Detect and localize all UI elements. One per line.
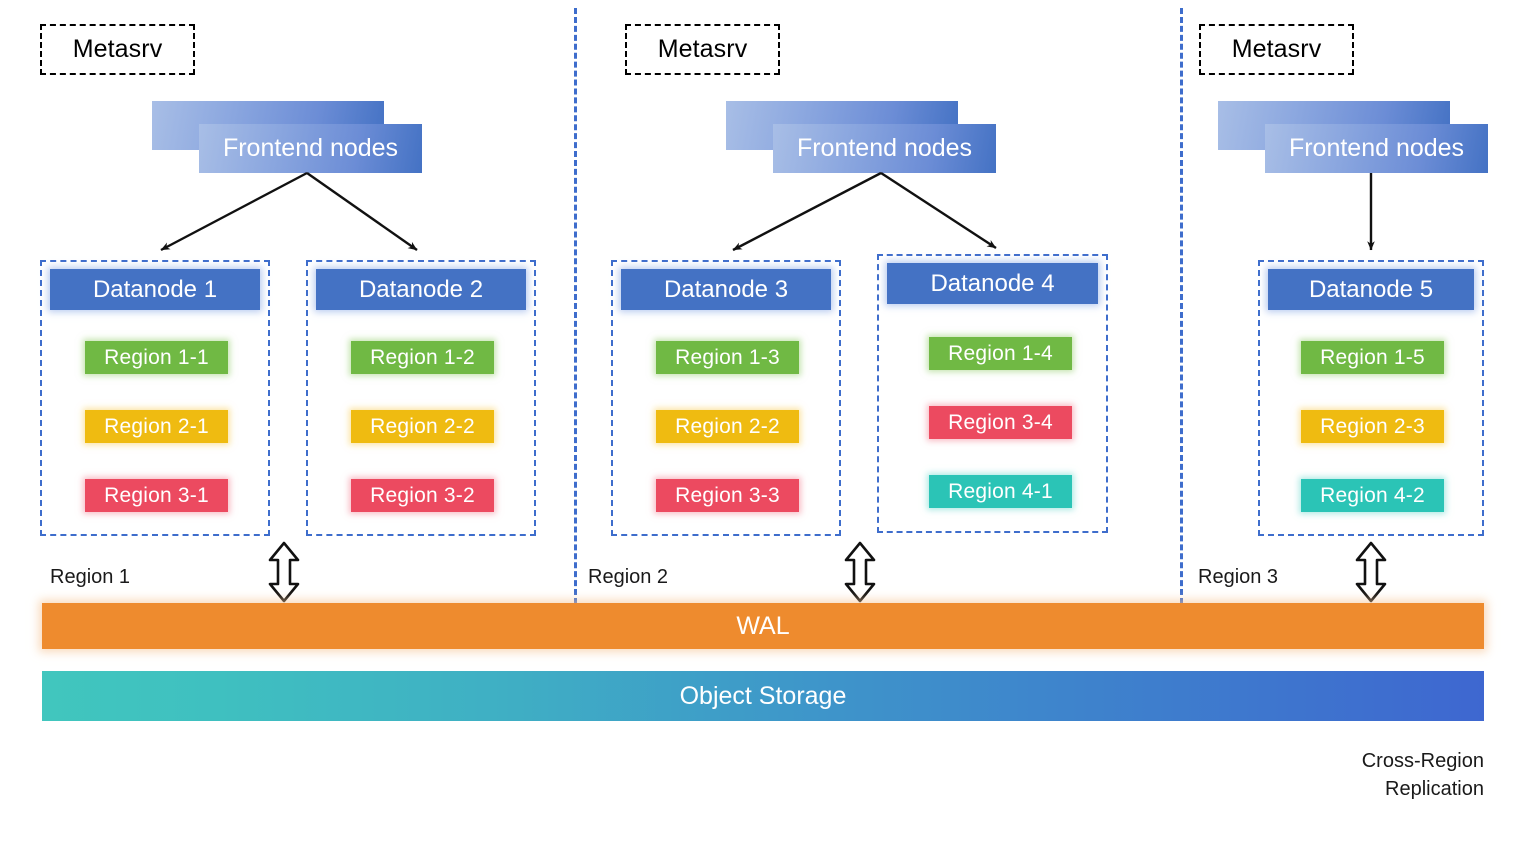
object-storage-label: Object Storage xyxy=(680,682,847,711)
metasrv-box-zone-3: Metasrv xyxy=(1199,24,1354,75)
region-chip: Region 1-1 xyxy=(85,341,228,374)
region-chip: Region 1-4 xyxy=(929,337,1072,370)
datanode-box-1: Datanode 1 Region 1-1 Region 2-1 Region … xyxy=(40,260,270,536)
datanode-title-5: Datanode 5 xyxy=(1268,269,1474,310)
frontend-slab-front: Frontend nodes xyxy=(1265,124,1488,173)
frontend-nodes-label: Frontend nodes xyxy=(797,134,972,163)
wal-bar: WAL xyxy=(42,603,1484,649)
datanode-box-3: Datanode 3 Region 1-3 Region 2-2 Region … xyxy=(611,260,841,536)
datanode-box-5: Datanode 5 Region 1-5 Region 2-3 Region … xyxy=(1258,260,1484,536)
frontend-slab-front: Frontend nodes xyxy=(773,124,996,173)
wal-label: WAL xyxy=(736,612,789,641)
region-chip: Region 4-1 xyxy=(929,475,1072,508)
cross-region-line-1: Cross-Region xyxy=(1204,747,1484,775)
region-chip: Region 1-5 xyxy=(1301,341,1444,374)
frontend-nodes-zone-3: Frontend nodes xyxy=(1218,101,1488,173)
metasrv-box-zone-1: Metasrv xyxy=(40,24,195,75)
frontend-nodes-label: Frontend nodes xyxy=(1289,134,1464,163)
region-chip: Region 4-2 xyxy=(1301,479,1444,512)
region-caption-3: Region 3 xyxy=(1198,566,1278,589)
double-arrow-zone-2 xyxy=(840,541,880,603)
frontend-slab-front: Frontend nodes xyxy=(199,124,422,173)
datanode-title-4: Datanode 4 xyxy=(887,263,1098,304)
zone-divider-2 xyxy=(1180,8,1183,604)
region-chip: Region 3-3 xyxy=(656,479,799,512)
datanode-title-1: Datanode 1 xyxy=(50,269,260,310)
region-chip: Region 3-4 xyxy=(929,406,1072,439)
region-chip: Region 3-1 xyxy=(85,479,228,512)
region-chip: Region 2-1 xyxy=(85,410,228,443)
region-caption-2: Region 2 xyxy=(588,566,668,589)
region-chip: Region 3-2 xyxy=(351,479,494,512)
region-chip: Region 1-2 xyxy=(351,341,494,374)
datanode-box-4: Datanode 4 Region 1-4 Region 3-4 Region … xyxy=(877,254,1108,533)
object-storage-bar: Object Storage xyxy=(42,671,1484,721)
metasrv-label: Metasrv xyxy=(1232,35,1322,64)
cross-region-line-2: Replication xyxy=(1204,775,1484,803)
datanode-box-2: Datanode 2 Region 1-2 Region 2-2 Region … xyxy=(306,260,536,536)
frontend-nodes-zone-2: Frontend nodes xyxy=(726,101,996,173)
datanode-title-3: Datanode 3 xyxy=(621,269,831,310)
region-chip: Region 1-3 xyxy=(656,341,799,374)
double-arrow-zone-1 xyxy=(264,541,304,603)
datanode-title-2: Datanode 2 xyxy=(316,269,526,310)
region-chip: Region 2-2 xyxy=(351,410,494,443)
frontend-nodes-label: Frontend nodes xyxy=(223,134,398,163)
frontend-nodes-zone-1: Frontend nodes xyxy=(152,101,422,173)
cross-region-replication-caption: Cross-Region Replication xyxy=(1204,747,1484,803)
architecture-diagram: Metasrv Frontend nodes Datanode 1 Region… xyxy=(0,0,1514,842)
metasrv-box-zone-2: Metasrv xyxy=(625,24,780,75)
double-arrow-zone-3 xyxy=(1351,541,1391,603)
region-caption-1: Region 1 xyxy=(50,566,130,589)
region-chip: Region 2-3 xyxy=(1301,410,1444,443)
metasrv-label: Metasrv xyxy=(73,35,163,64)
metasrv-label: Metasrv xyxy=(658,35,748,64)
zone-divider-1 xyxy=(574,8,577,604)
region-chip: Region 2-2 xyxy=(656,410,799,443)
